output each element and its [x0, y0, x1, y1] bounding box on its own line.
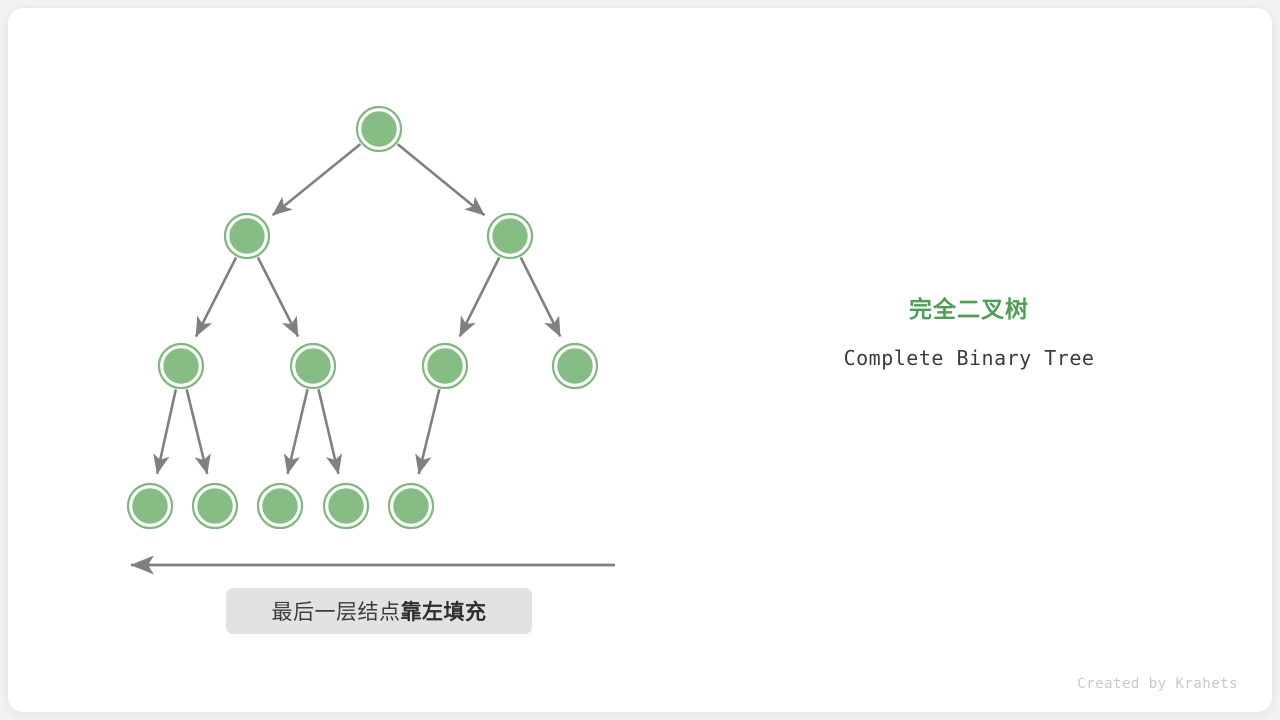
- caption-badge: 最后一层结点靠左填充: [226, 588, 532, 634]
- diagram-canvas: 最后一层结点靠左填充 完全二叉树 Complete Binary Tree Cr…: [0, 0, 1280, 720]
- legend-block: 完全二叉树 Complete Binary Tree: [780, 290, 1158, 370]
- caption-emphasis: 靠左填充: [401, 596, 487, 626]
- caption-prefix: 最后一层结点: [272, 596, 401, 626]
- legend-subtitle: Complete Binary Tree: [780, 346, 1158, 370]
- legend-title: 完全二叉树: [780, 290, 1158, 324]
- credit-text: Created by Krahets: [1077, 676, 1238, 692]
